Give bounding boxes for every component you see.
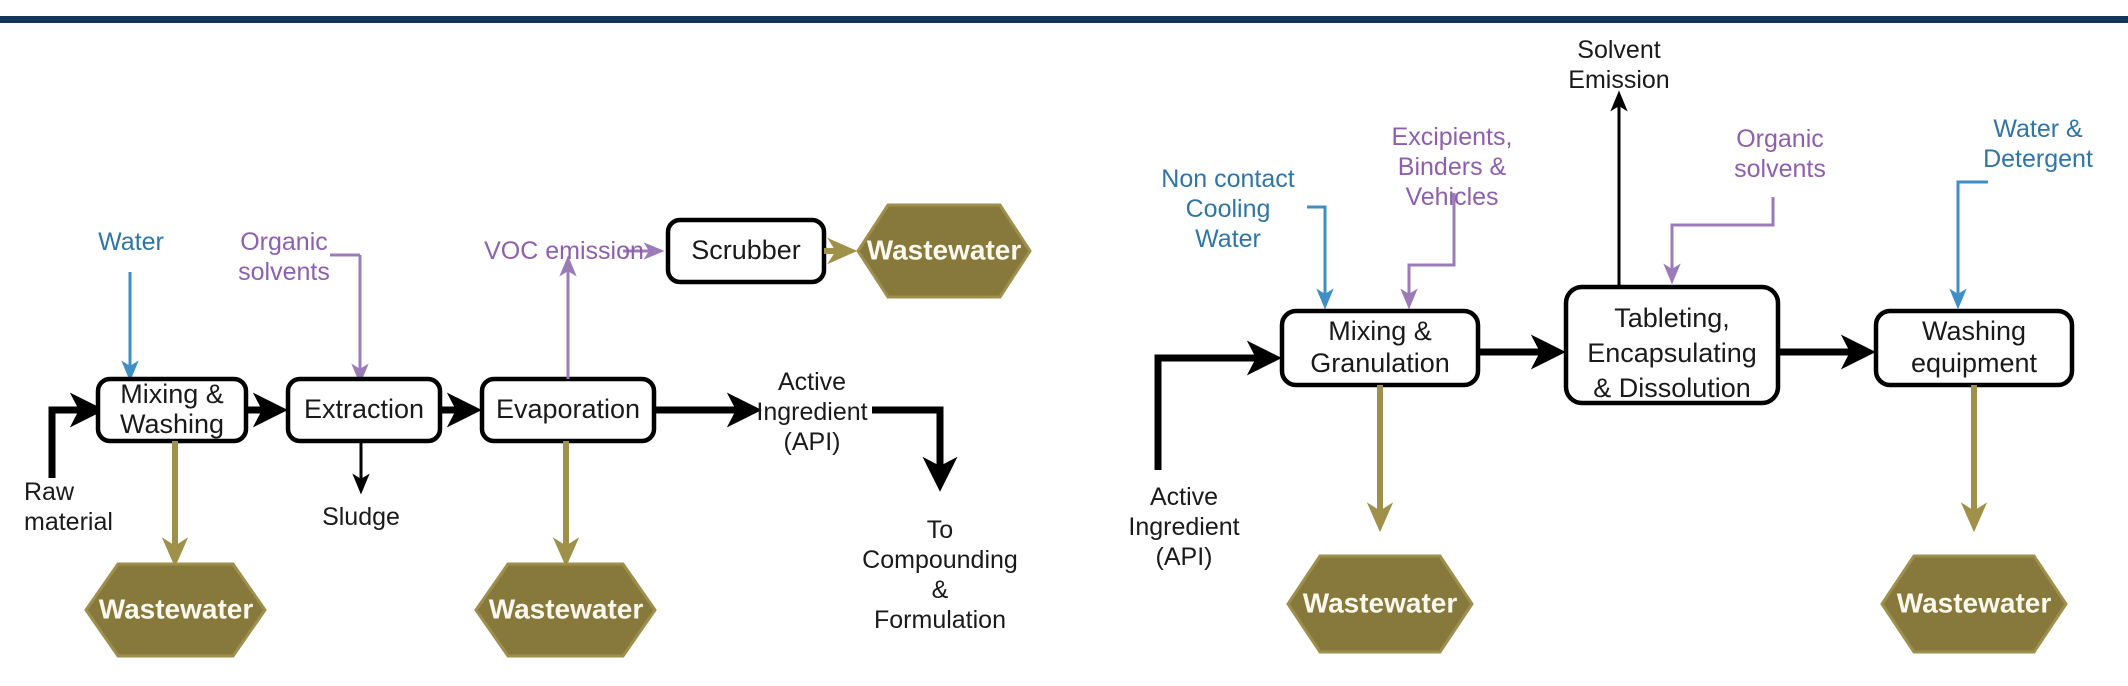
arrow-water-detergent-elbow bbox=[1958, 182, 1988, 305]
label-wastewater-scrubber: Wastewater bbox=[867, 234, 1022, 265]
label-water: Water bbox=[98, 228, 164, 256]
label-wastewater-washing: Wastewater bbox=[1897, 587, 2052, 618]
label-solvent-emission-line2: Emission bbox=[1568, 66, 1669, 94]
label-mixing-granulation-line2: Granulation bbox=[1310, 348, 1450, 378]
arrow-cooling-water-elbow bbox=[1307, 207, 1325, 305]
label-tableting-line3: & Dissolution bbox=[1593, 373, 1751, 403]
label-api-output-line2: Ingredient bbox=[756, 398, 867, 426]
label-api-output-line1: Active bbox=[778, 368, 846, 396]
label-mixing-granulation-line1: Mixing & bbox=[1328, 316, 1432, 346]
label-mixing-washing-line1: Mixing & bbox=[120, 379, 224, 409]
label-washing-line1: Washing bbox=[1922, 316, 2026, 346]
process-flow-diagram: Mixing & Washing Extraction Evaporation … bbox=[0, 0, 2128, 686]
label-cooling-water-line2: Cooling bbox=[1186, 195, 1271, 223]
label-water-detergent-line2: Detergent bbox=[1983, 145, 2093, 173]
label-organic-solvents-right-line1: Organic bbox=[1736, 125, 1824, 153]
label-tableting-line1: Tableting, bbox=[1614, 303, 1730, 333]
label-mixing-washing-line2: Washing bbox=[120, 409, 224, 439]
label-compounding-line4: Formulation bbox=[874, 606, 1006, 634]
label-cooling-water-line3: Water bbox=[1195, 225, 1261, 253]
label-excipients-line1: Excipients, bbox=[1392, 123, 1513, 151]
label-wastewater-mixing: Wastewater bbox=[99, 593, 254, 624]
label-organic-solvents-line2: solvents bbox=[238, 258, 330, 286]
arrow-api-to-compounding bbox=[872, 410, 940, 482]
arrow-api-input-right bbox=[1158, 358, 1272, 470]
label-voc-emission: VOC emission bbox=[484, 237, 644, 265]
label-api-output-line3: (API) bbox=[784, 428, 841, 456]
label-wastewater-evaporation: Wastewater bbox=[489, 593, 644, 624]
label-cooling-water-line1: Non contact bbox=[1161, 165, 1294, 193]
label-compounding-line3: & bbox=[932, 576, 949, 604]
label-organic-solvents-line1: Organic bbox=[240, 228, 328, 256]
label-api-input-line2: Ingredient bbox=[1128, 513, 1239, 541]
label-extraction: Extraction bbox=[304, 394, 424, 424]
label-water-detergent-line1: Water & bbox=[1993, 115, 2083, 143]
label-sludge: Sludge bbox=[322, 503, 400, 531]
label-excipients-line2: Binders & bbox=[1398, 153, 1507, 181]
label-excipients-line3: Vehicles bbox=[1405, 183, 1498, 211]
label-solvent-emission-line1: Solvent bbox=[1577, 36, 1660, 64]
label-washing-line2: equipment bbox=[1911, 348, 2038, 378]
label-evaporation: Evaporation bbox=[496, 394, 640, 424]
label-wastewater-granulation: Wastewater bbox=[1303, 587, 1458, 618]
diagram-canvas: Mixing & Washing Extraction Evaporation … bbox=[0, 0, 2128, 686]
label-organic-solvents-right-line2: solvents bbox=[1734, 155, 1826, 183]
label-scrubber: Scrubber bbox=[691, 235, 801, 265]
label-compounding-line1: To bbox=[927, 516, 953, 544]
label-api-input-line3: (API) bbox=[1156, 543, 1213, 571]
label-compounding-line2: Compounding bbox=[862, 546, 1018, 574]
arrow-raw-material bbox=[52, 410, 95, 478]
arrow-organic-solvents-right-elbow bbox=[1672, 197, 1773, 280]
label-api-input-line1: Active bbox=[1150, 483, 1218, 511]
label-tableting-line2: Encapsulating bbox=[1587, 338, 1757, 368]
label-raw-material-line1: Raw bbox=[24, 478, 75, 506]
label-raw-material-line2: material bbox=[24, 508, 113, 536]
